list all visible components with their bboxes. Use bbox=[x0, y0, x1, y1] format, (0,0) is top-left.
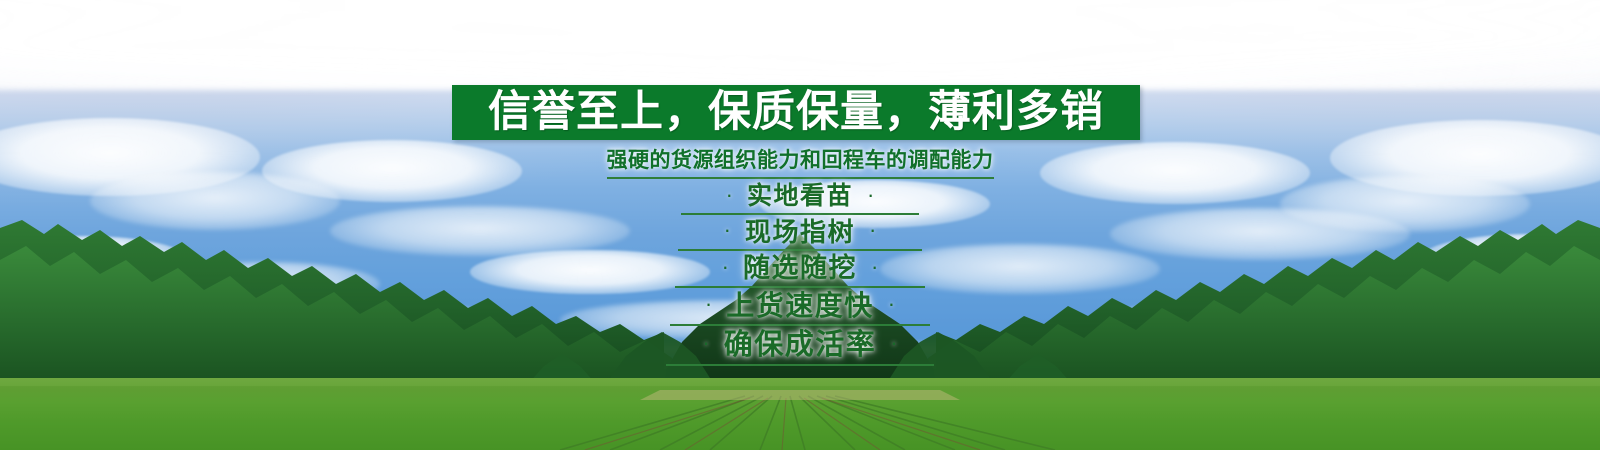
bullet-dot-icon: · bbox=[722, 256, 729, 278]
feature-item-0: · 实地看苗 · bbox=[681, 180, 919, 215]
feature-label: 现场指树 bbox=[745, 219, 855, 245]
feature-list: · 实地看苗 · · 现场指树 · · 随选随挖 · · 上货速度快 · · bbox=[0, 180, 1600, 366]
feature-item-4: · 确保成活率 · bbox=[666, 326, 934, 366]
feature-item-1: · 现场指树 · bbox=[678, 215, 922, 251]
banner-content: 信誉至上，保质保量，薄利多销 强硬的货源组织能力和回程车的调配能力 · 实地看苗… bbox=[0, 0, 1600, 450]
feature-label: 上货速度快 bbox=[726, 292, 874, 320]
bullet-dot-icon: · bbox=[869, 219, 876, 241]
bullet-dot-icon: · bbox=[702, 332, 709, 354]
bullet-dot-icon: · bbox=[890, 332, 897, 354]
bullet-dot-icon: · bbox=[705, 293, 712, 315]
promo-banner: 信誉至上，保质保量，薄利多销 强硬的货源组织能力和回程车的调配能力 · 实地看苗… bbox=[0, 0, 1600, 450]
feature-item-2: · 随选随挖 · bbox=[675, 251, 925, 288]
bullet-dot-icon: · bbox=[888, 293, 895, 315]
feature-label: 随选随挖 bbox=[743, 255, 857, 282]
subtitle: 强硬的货源组织能力和回程车的调配能力 bbox=[0, 144, 1600, 179]
subtitle-text: 强硬的货源组织能力和回程车的调配能力 bbox=[607, 144, 994, 179]
bullet-dot-icon: · bbox=[871, 256, 878, 278]
feature-label: 确保成活率 bbox=[724, 331, 877, 360]
feature-label: 实地看苗 bbox=[747, 184, 853, 209]
bullet-dot-icon: · bbox=[726, 184, 733, 206]
bullet-dot-icon: · bbox=[724, 219, 731, 241]
headline-bar: 信誉至上，保质保量，薄利多销 bbox=[452, 85, 1140, 140]
headline-text: 信誉至上，保质保量，薄利多销 bbox=[488, 91, 1104, 134]
feature-item-3: · 上货速度快 · bbox=[670, 288, 930, 326]
bullet-dot-icon: · bbox=[867, 184, 874, 206]
